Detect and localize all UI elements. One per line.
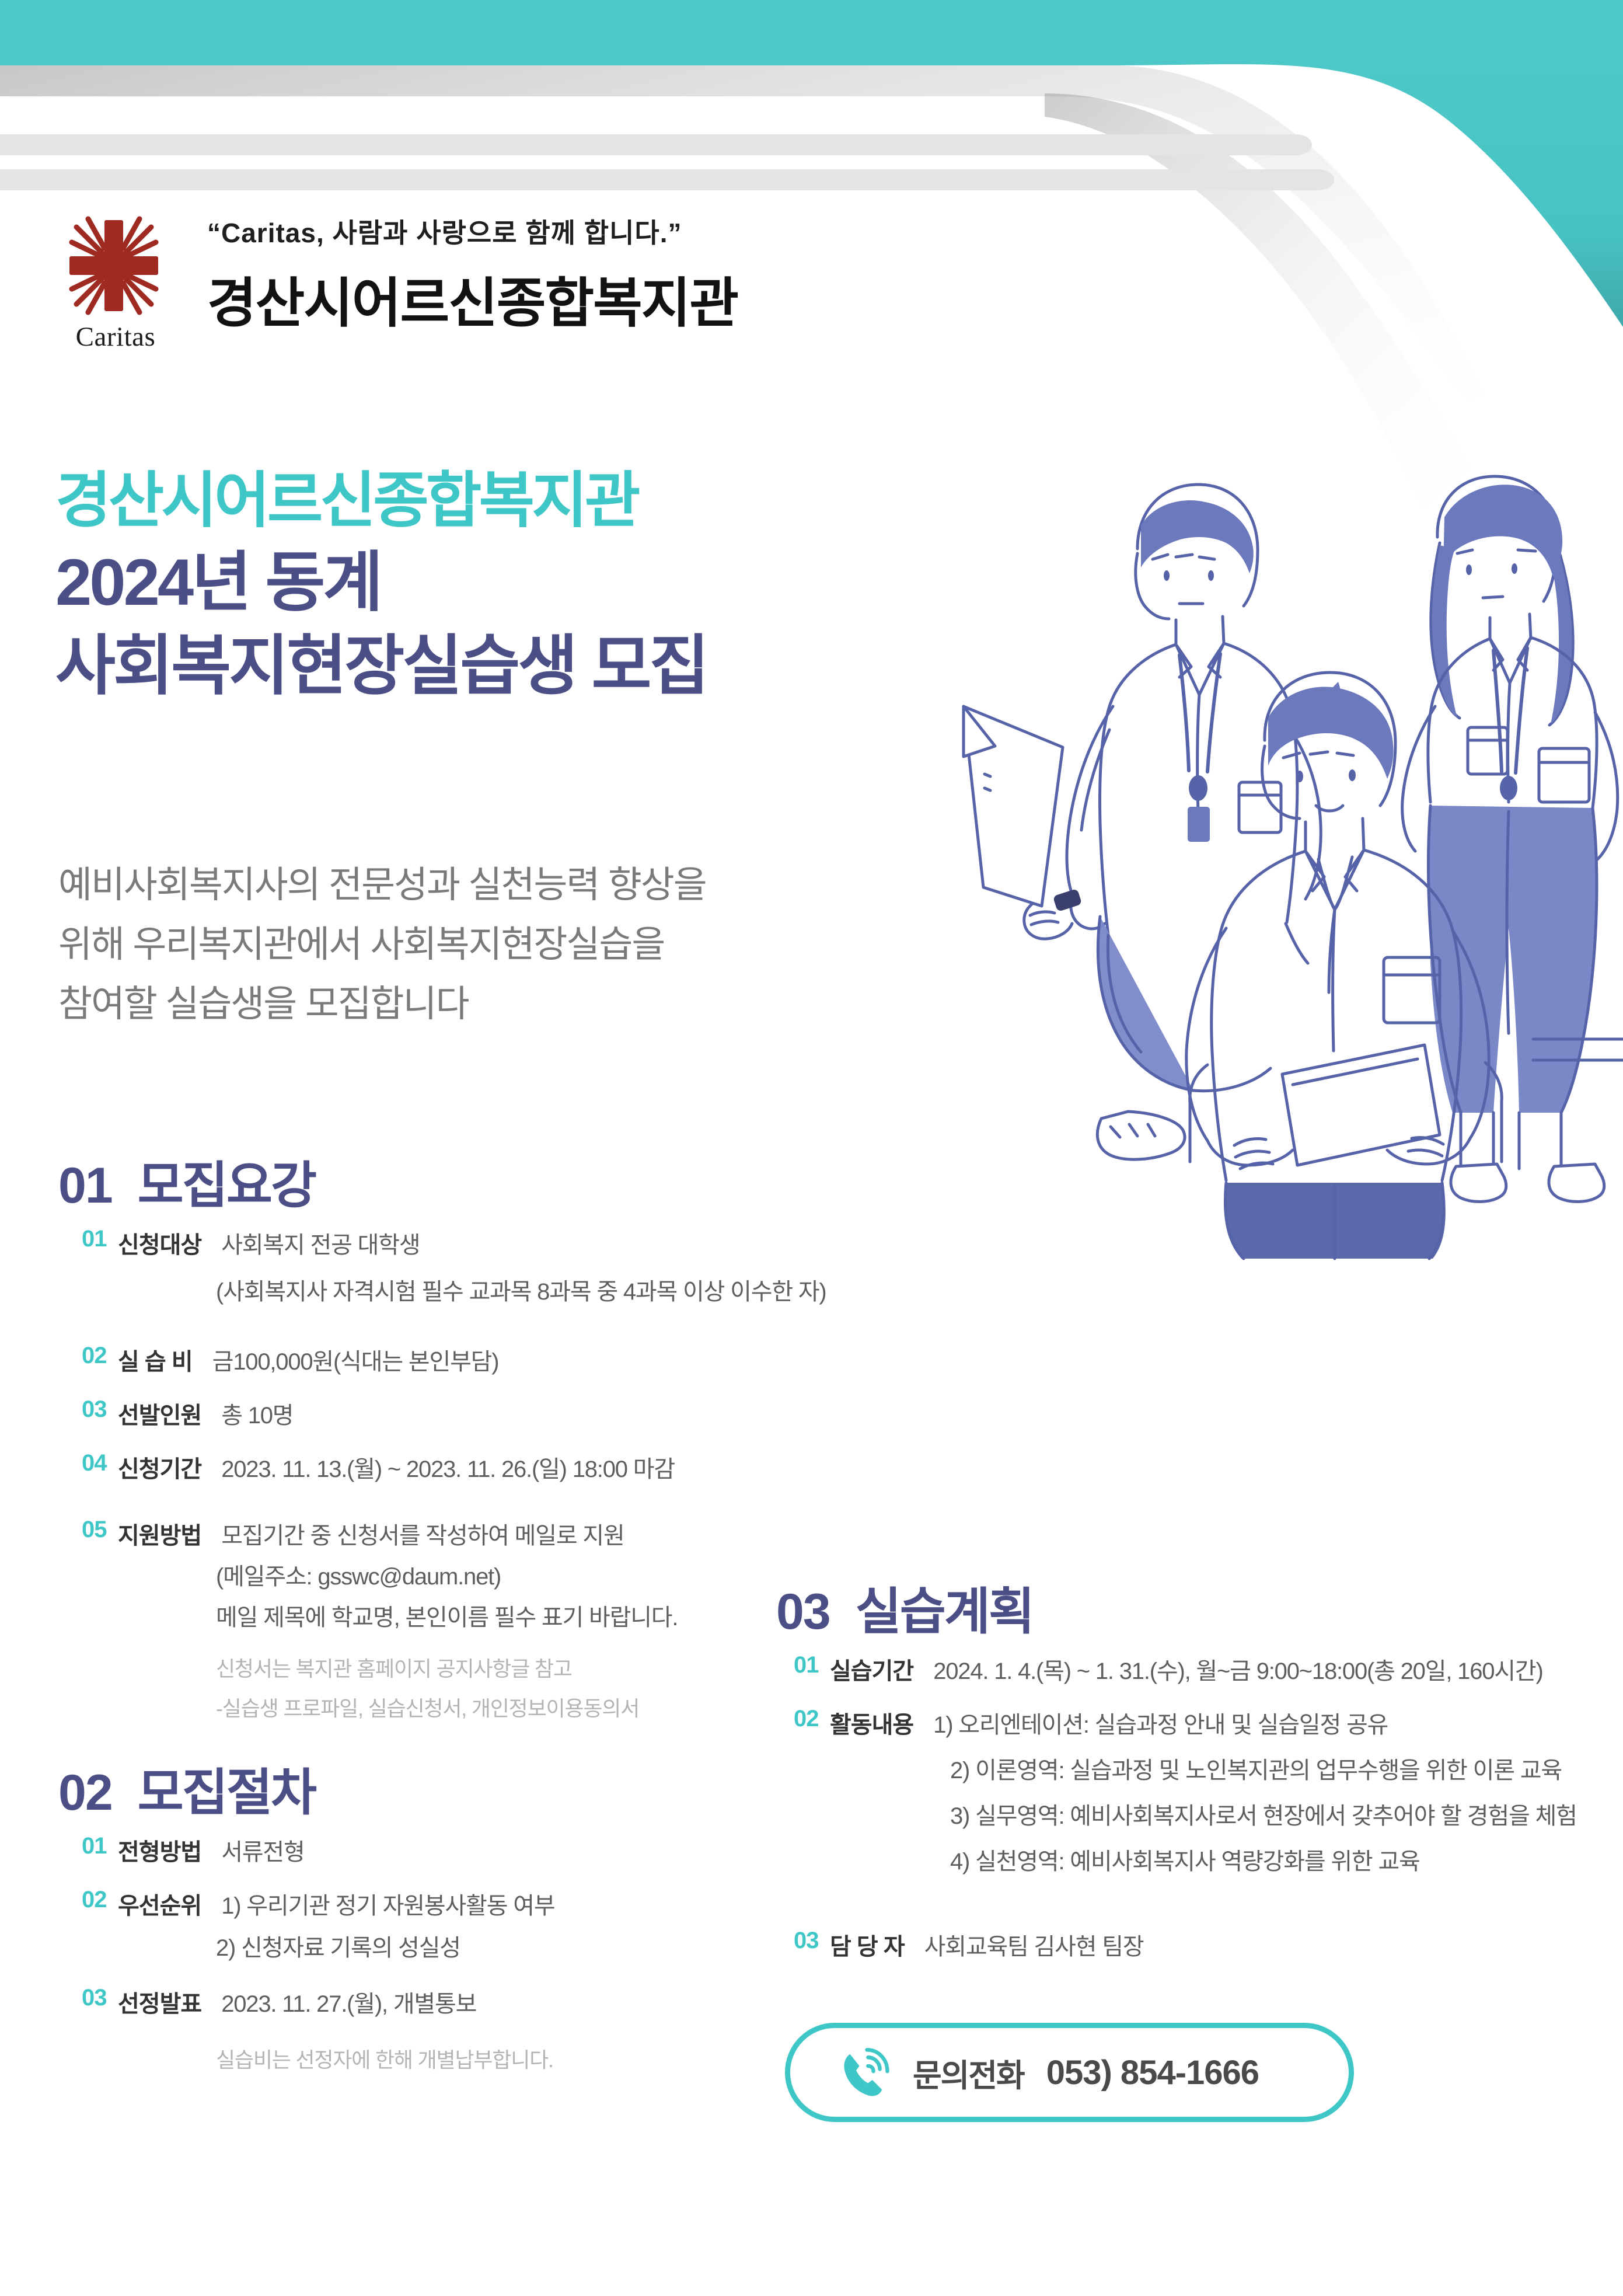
poster-lede: 예비사회복지사의 전문성과 실천능력 향상을 위해 우리복지관에서 사회복지현장… [58,855,934,1034]
item-value: 금100,000원(식대는 본인부담) [212,1343,499,1377]
item-index: 01 [794,1652,830,1678]
list-item: 02실 습 비금100,000원(식대는 본인부담) [82,1343,498,1377]
organization-name: 경산시어르신종합복지관 [207,260,738,337]
activity-item-2: 2) 이론영역: 실습과정 및 노인복지관의 업무수행을 위한 이론 교육 [950,1751,1562,1785]
item-index: 02 [82,1887,118,1913]
section-title: 모집절차 [138,1765,315,1821]
item-label: 신청기간 [118,1450,201,1484]
item-value: 2023. 11. 27.(월), 개별통보 [221,1985,476,2019]
item-index: 01 [82,1226,118,1252]
three-people-illustration [849,403,1623,1261]
item-index: 03 [82,1985,118,2011]
list-item: 03선발인원총 10명 [82,1396,293,1430]
contact-phone-banner[interactable]: 문의전화 053) 854-1666 [785,2023,1354,2122]
item-label: 신청대상 [118,1226,201,1260]
item-index: 04 [82,1450,118,1476]
item-label: 전형방법 [118,1833,201,1867]
list-item: 03선정발표2023. 11. 27.(월), 개별통보 [82,1985,476,2019]
contact-phone-label: 문의전화 [913,2050,1024,2096]
list-item: 02우선순위1) 우리기관 정기 자원봉사활동 여부 [82,1887,554,1921]
item-index: 05 [82,1517,118,1543]
item-subtext: (사회복지사 자격시험 필수 교과목 8과목 중 4과목 이상 이수한 자) [216,1273,826,1306]
activity-item-3: 3) 실무영역: 예비사회복지사로서 현장에서 갖추어야 할 경험을 체험 [950,1797,1577,1831]
item-value: 사회복지 전공 대학생 [221,1226,420,1260]
section-title: 모집요강 [138,1158,315,1214]
item-label: 선발인원 [118,1396,201,1430]
item-value: 총 10명 [221,1396,293,1430]
note-application-form: 신청서는 복지관 홈페이지 공지사항글 참고 [216,1652,572,1682]
item-index: 03 [794,1928,830,1954]
lede-line-1: 예비사회복지사의 전문성과 실천능력 향상을 [58,855,934,915]
item-index: 03 [82,1396,118,1423]
item-label: 실 습 비 [118,1343,193,1377]
title-line-year-season: 2024년 동계 [55,543,919,623]
list-item: 01신청대상사회복지 전공 대학생 [82,1226,420,1260]
item-index: 02 [82,1343,118,1369]
item-value: 서류전형 [221,1833,304,1867]
title-line-organization: 경산시어르신종합복지관 [55,467,919,535]
caritas-wordmark: Caritas [66,321,165,353]
section-number: 03 [776,1584,830,1640]
item-label: 우선순위 [118,1887,201,1921]
section-heading-practicum-plan: 03실습계획 [776,1570,1033,1643]
item-subtext-priority-2: 2) 신청자료 기록의 성실성 [216,1929,460,1963]
title-line-program: 사회복지현장실습생 모집 [55,626,919,706]
phone-ringing-icon [837,2046,891,2099]
list-item: 05지원방법모집기간 중 신청서를 작성하여 메일로 지원 [82,1517,624,1551]
caritas-cross-logo [61,207,166,324]
activity-item-4: 4) 실천영역: 예비사회복지사 역량강화를 위한 교육 [950,1842,1420,1876]
item-value: 2024. 1. 4.(목) ~ 1. 31.(수), 월~금 9:00~18:… [933,1652,1542,1686]
item-label: 지원방법 [118,1517,201,1551]
lede-line-2: 위해 우리복지관에서 사회복지현장실습을 [58,915,934,974]
list-item: 03담 당 자사회교육팀 김사현 팀장 [794,1928,1143,1961]
section-heading-recruitment-process: 02모집절차 [58,1751,315,1824]
item-value: 1) 오리엔테이션: 실습과정 안내 및 실습일정 공유 [933,1706,1388,1740]
item-index: 01 [82,1833,118,1859]
poster-title: 경산시어르신종합복지관 2024년 동계 사회복지현장실습생 모집 [55,467,919,706]
section-title: 실습계획 [856,1584,1033,1640]
contact-phone-number: 053) 854-1666 [1046,2053,1259,2092]
section-heading-recruitment-overview: 01모집요강 [58,1144,315,1217]
list-item: 01실습기간2024. 1. 4.(목) ~ 1. 31.(수), 월~금 9:… [794,1652,1543,1686]
item-subtext-mail-subject: 메일 제목에 학교명, 본인이름 필수 표기 바랍니다. [216,1598,678,1632]
item-label: 실습기간 [830,1652,913,1686]
list-item: 01전형방법서류전형 [82,1833,305,1867]
list-item: 04신청기간2023. 11. 13.(월) ~ 2023. 11. 26.(일… [82,1450,675,1484]
item-value: 사회교육팀 김사현 팀장 [924,1928,1144,1961]
item-index: 02 [794,1706,830,1732]
item-value: 2023. 11. 13.(월) ~ 2023. 11. 26.(일) 18:0… [221,1450,675,1484]
lede-line-3: 참여할 실습생을 모집합니다 [58,974,934,1034]
list-item: 02활동내용1) 오리엔테이션: 실습과정 안내 및 실습일정 공유 [794,1706,1388,1740]
item-subtext-email: (메일주소: gsswc@daum.net) [216,1558,501,1591]
item-label: 활동내용 [830,1706,913,1740]
section-number: 02 [58,1765,112,1821]
section-number: 01 [58,1158,112,1214]
item-label: 담 당 자 [830,1928,905,1961]
organization-slogan: “Caritas, 사람과 사랑으로 함께 합니다.” [207,212,682,250]
note-fee-payment: 실습비는 선정자에 한해 개별납부합니다. [216,2043,553,2074]
organization-header: Caritas “Caritas, 사람과 사랑으로 함께 합니다.” 경산시어… [61,201,832,371]
item-value: 모집기간 중 신청서를 작성하여 메일로 지원 [221,1517,624,1551]
note-required-documents: -실습생 프로파일, 실습신청서, 개인정보이용동의서 [216,1692,639,1722]
item-value: 1) 우리기관 정기 자원봉사활동 여부 [221,1887,554,1921]
item-label: 선정발표 [118,1985,201,2019]
